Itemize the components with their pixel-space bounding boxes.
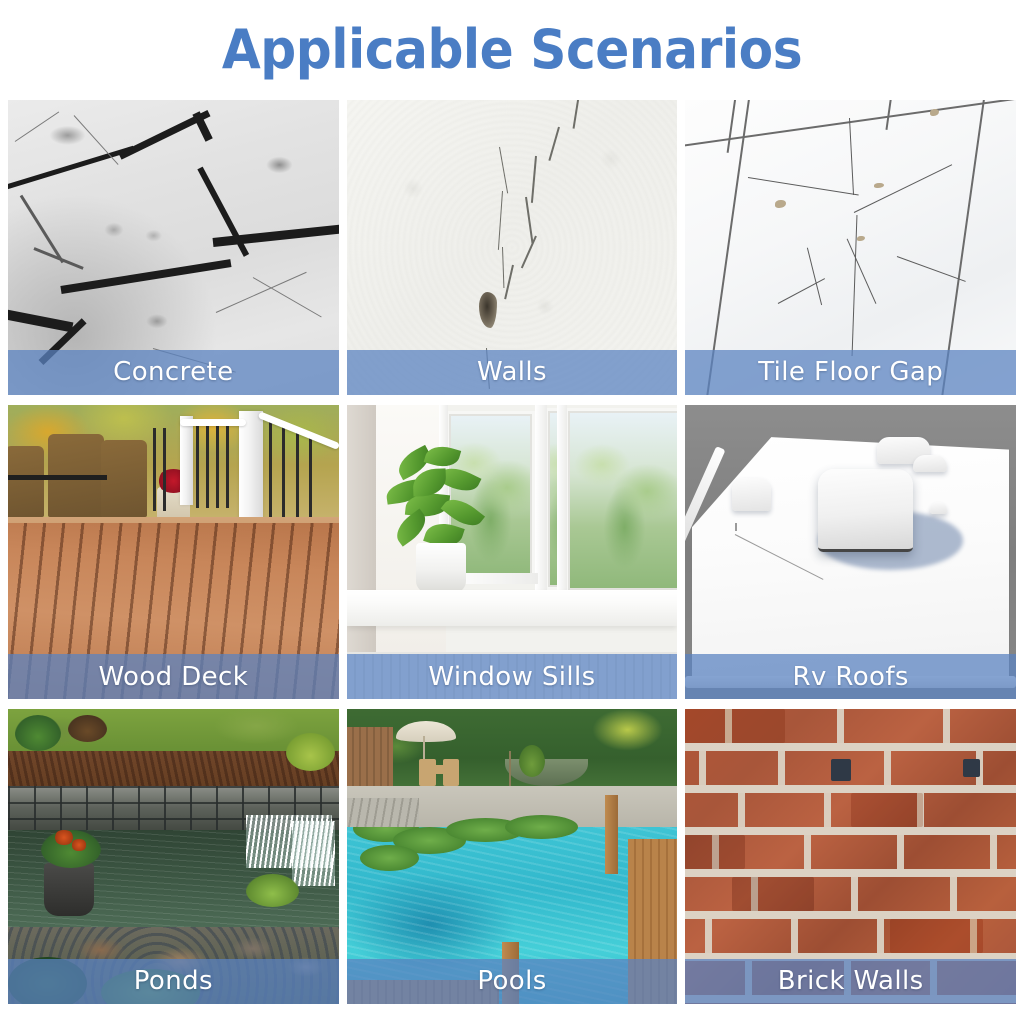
scenario-tile-rv-roof[interactable]: Rv Roofs [685, 405, 1016, 700]
tile-label-wood-deck: Wood Deck [8, 654, 339, 699]
tile-label-concrete: Concrete [8, 350, 339, 395]
scenario-tile-concrete[interactable]: Concrete [8, 100, 339, 395]
scenario-tile-walls[interactable]: Walls [347, 100, 678, 395]
scenario-tile-pond[interactable]: Ponds [8, 709, 339, 1004]
scenario-tile-brick-wall[interactable]: Brick Walls [685, 709, 1016, 1004]
scenario-grid: Concrete Walls [8, 100, 1016, 1004]
page-title: Applicable Scenarios [36, 18, 988, 82]
tile-label-tile-floor: Tile Floor Gap [685, 350, 1016, 395]
tile-label-rv-roof: Rv Roofs [685, 654, 1016, 699]
scenario-tile-window-sill[interactable]: Window Sills [347, 405, 678, 700]
tile-label-pool: Pools [347, 959, 678, 1004]
scenario-tile-pool[interactable]: Pools [347, 709, 678, 1004]
scenarios-page: Applicable Scenarios Concrete [0, 0, 1024, 1024]
scenario-tile-tile-floor[interactable]: Tile Floor Gap [685, 100, 1016, 395]
tile-label-pond: Ponds [8, 959, 339, 1004]
tile-label-walls: Walls [347, 350, 678, 395]
scenario-tile-wood-deck[interactable]: Wood Deck [8, 405, 339, 700]
tile-label-brick-wall: Brick Walls [685, 959, 1016, 1004]
tile-label-window-sill: Window Sills [347, 654, 678, 699]
